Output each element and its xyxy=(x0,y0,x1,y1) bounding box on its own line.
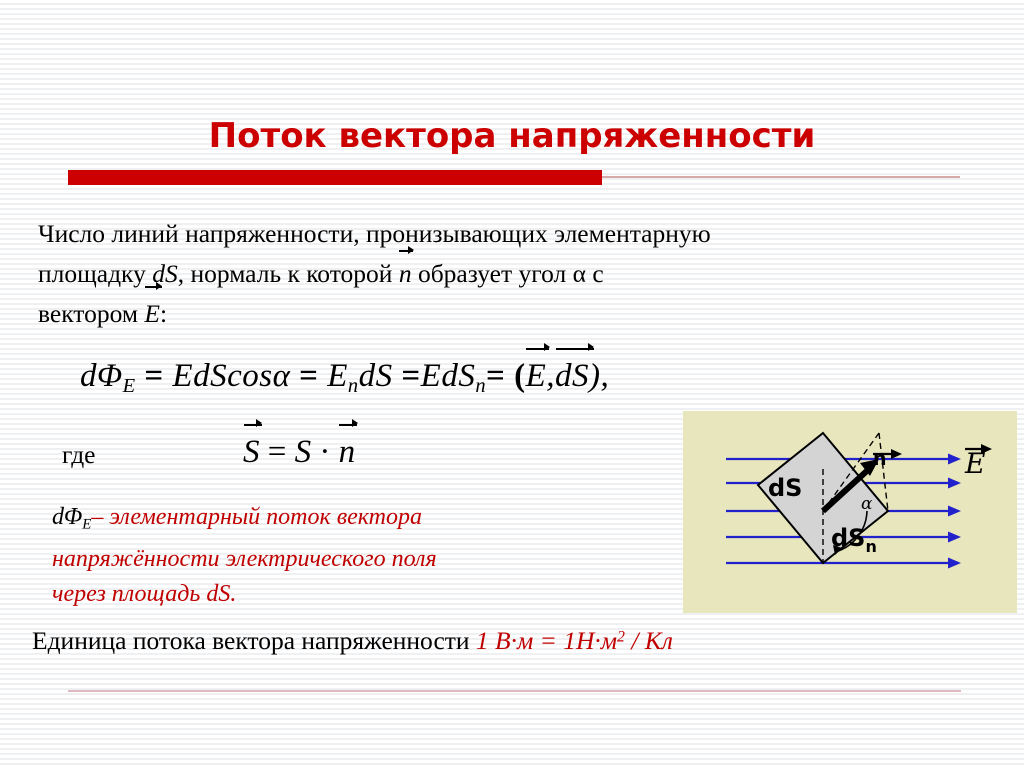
where-label: где xyxy=(62,440,95,470)
vector-E-inline: E xyxy=(144,294,160,334)
intro-line-1: Число линий напряженности, пронизывающих… xyxy=(38,214,966,254)
title-underline-bar xyxy=(68,170,602,185)
label-dSn: dSn xyxy=(831,524,877,556)
red-def-line-1: dΦE– элементарный поток вектора xyxy=(52,500,672,542)
label-E: E xyxy=(964,447,985,480)
dashed-vertical xyxy=(879,433,888,511)
formula-en: E xyxy=(327,358,348,394)
flux-diagram: dS n α dSn E xyxy=(683,411,1017,613)
formula-dphi: dΦ xyxy=(80,358,123,394)
label-alpha: α xyxy=(861,494,873,514)
flux-unit-line: Единица потока вектора напряженности 1 В… xyxy=(32,626,673,656)
flux-definition-text: dΦE– элементарный поток вектора напряжён… xyxy=(52,500,672,612)
intro-line-3-colon: : xyxy=(160,299,167,328)
formula-en-sub: n xyxy=(348,375,359,397)
formula-s-eq: = xyxy=(260,434,295,470)
red-def-line-1-text: – элементарный поток вектора xyxy=(91,504,422,530)
formula-ds: dS xyxy=(359,358,393,394)
slide-canvas: Поток вектора напряженности Число линий … xyxy=(0,0,1024,767)
field-arrow xyxy=(948,532,961,543)
vector-S-formula: S xyxy=(243,434,260,471)
vector-dS-formula: dS xyxy=(555,358,589,395)
intro-line-2-text-b: , нормаль к которой xyxy=(178,259,393,288)
formula-comma: , xyxy=(546,358,555,394)
formula-s-scalar: S xyxy=(295,434,312,470)
formula-eq-1: = xyxy=(136,358,173,394)
unit-line-exponent: 2 xyxy=(617,628,625,645)
label-n: n xyxy=(873,448,887,470)
formula-flux-main: dΦE = EdScosα = EndS =EdSn= (E,dS), xyxy=(80,358,609,398)
formula-dphi-sub: E xyxy=(123,375,136,397)
formula-eq-2: = xyxy=(290,358,327,394)
formula-s-dot: · xyxy=(311,434,339,470)
vector-n-inline: n xyxy=(399,254,412,294)
red-def-dphi: dΦ xyxy=(52,504,82,530)
unit-line-value-a: 1 В·м = 1Н·м xyxy=(476,626,617,655)
field-arrow xyxy=(948,478,961,489)
formula-area-vector: S = S · n xyxy=(243,434,355,471)
field-arrow xyxy=(948,454,961,465)
label-dS: dS xyxy=(768,474,802,502)
intro-line-2-text-c: образует угол α с xyxy=(418,259,604,288)
page-title: Поток вектора напряженности xyxy=(0,116,1024,156)
field-arrow xyxy=(948,558,961,569)
red-def-line-3: через площадь dS. xyxy=(52,577,672,612)
vector-n-formula: n xyxy=(339,434,356,471)
intro-line-3-text-a: вектором xyxy=(38,299,138,328)
title-underline-rule xyxy=(602,176,960,178)
unit-line-value-b: / Кл xyxy=(625,626,673,655)
formula-eq-4: = ( xyxy=(486,358,526,394)
red-def-dphi-sub: E xyxy=(82,516,91,532)
field-arrow xyxy=(948,506,961,517)
formula-edsn: EdS xyxy=(421,358,476,394)
intro-line-2-text-a: площадку xyxy=(38,259,146,288)
formula-edscos: EdScosα xyxy=(172,358,290,394)
bottom-divider xyxy=(68,690,961,692)
unit-line-label: Единица потока вектора напряженности xyxy=(32,626,476,655)
intro-paragraph: Число линий напряженности, пронизывающих… xyxy=(38,214,966,334)
field-line-arrowheads xyxy=(948,454,961,569)
intro-line-3: вектором E: xyxy=(38,294,966,334)
red-def-line-2: напряжённости электрического поля xyxy=(52,542,672,577)
intro-line-2: площадку dS, нормаль к которой n образуе… xyxy=(38,254,966,294)
formula-eq-3: = xyxy=(393,358,421,394)
vector-E-formula: E xyxy=(526,358,547,395)
formula-tail: ), xyxy=(589,358,609,394)
formula-edsn-sub: n xyxy=(475,375,486,397)
